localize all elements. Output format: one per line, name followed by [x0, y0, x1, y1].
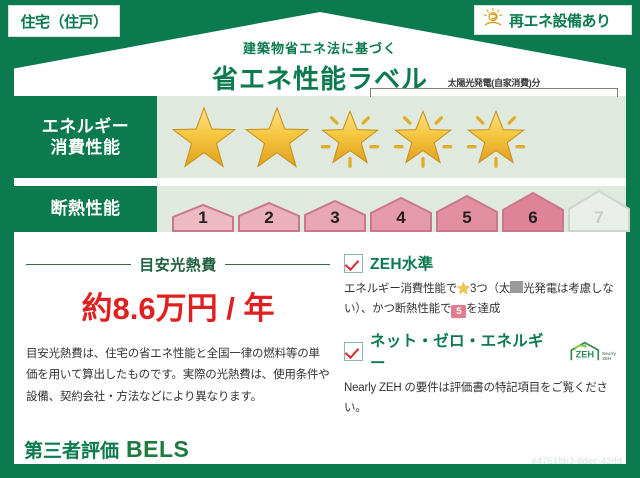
insulation-grade-scale: 1 2 3 4 5	[157, 186, 626, 232]
net-zero-title-row: ネット・ゼロ・エネルギー ZEH Nearly ZEH	[344, 329, 626, 373]
energy-performance-label: エネルギー 消費性能	[14, 96, 157, 178]
renewable-badge-label: 再エネ設備あり	[509, 10, 611, 31]
energy-star-rating	[157, 96, 626, 178]
bels-certification-box: 第三者評価 BELS	[16, 434, 197, 464]
zeh-desc-part1: エネルギー消費性能で	[344, 283, 457, 295]
evaluation-date: 評価日 2025年10月22日	[472, 431, 622, 451]
energy-label-line2: 消費性能	[51, 137, 121, 158]
category-tag: 住宅（住戸）	[8, 5, 120, 37]
zeh-column: ZEH水準 エネルギー消費性能で3つ（太光発電は考慮しない）、かつ断熱性能で5を…	[330, 248, 626, 428]
utility-cost-heading-text: 目安光熱費	[139, 254, 217, 275]
grade-badge-1: 1	[171, 202, 235, 232]
grade-number: 6	[501, 208, 565, 228]
grade-badge-3: 3	[303, 198, 367, 232]
grade-number: 5	[435, 208, 499, 228]
utility-cost-description: 目安光熱費は、住宅の省エネ性能と全国一律の燃料等の単価を用いて算出したものです。…	[26, 344, 330, 408]
grade-number: 3	[303, 208, 367, 228]
grade-badge-inline: 5	[451, 305, 466, 318]
energy-performance-row: エネルギー 消費性能 太陽光発電(自家消費)分	[14, 96, 626, 178]
zeh-standard-title-row: ZEH水準	[344, 252, 626, 274]
zeh-logo-caption: Nearly ZEH	[602, 352, 626, 362]
heading-rule-left	[26, 264, 131, 265]
renewable-equipment-badge: 再エネ設備あり	[474, 5, 632, 35]
building-name: ステラルーチェ 101号室	[225, 439, 388, 459]
net-zero-energy-block: ネット・ゼロ・エネルギー ZEH Nearly ZEH Nearly ZEH の…	[344, 329, 626, 418]
grade-badge-6: 6	[501, 190, 565, 232]
lower-content: 目安光熱費 約8.6万円 / 年 目安光熱費は、住宅の省エネ性能と全国一律の燃料…	[14, 248, 626, 428]
utility-cost-value: 約8.6万円 / 年	[26, 283, 330, 328]
label-footer: 第三者評価 BELS ステラルーチェ 101号室 評価日 2025年10月22日…	[0, 422, 640, 478]
zeh-desc-part4: を達成	[466, 303, 500, 315]
grade-number: 2	[237, 208, 301, 228]
star-icon-solar	[390, 106, 456, 169]
sun-icon	[482, 7, 504, 34]
insulation-performance-row: 断熱性能 1 2 3	[14, 186, 626, 232]
heading-rule-right	[225, 264, 330, 265]
star-icon-solar	[317, 106, 383, 169]
bels-jp-label: 第三者評価	[24, 436, 119, 463]
grade-badge-2: 2	[237, 200, 301, 232]
utility-cost-column: 目安光熱費 約8.6万円 / 年 目安光熱費は、住宅の省エネ性能と全国一律の燃料…	[14, 248, 330, 428]
svg-text:ZEH: ZEH	[575, 350, 594, 360]
zeh-standard-description: エネルギー消費性能で3つ（太光発電は考慮しない）、かつ断熱性能で5を達成	[344, 279, 626, 319]
grade-number: 7	[567, 208, 631, 228]
energy-label-line1: エネルギー	[42, 116, 130, 137]
star-icon-inline	[457, 281, 470, 294]
checkmark-icon	[344, 254, 363, 273]
zeh-standard-title: ZEH水準	[370, 252, 434, 274]
zeh-house-logo-icon: ZEH Nearly ZEH	[568, 340, 626, 362]
category-tag-label: 住宅（住戸）	[20, 11, 107, 32]
grade-badge-7: 7	[567, 188, 631, 232]
star-icon-solar	[463, 106, 529, 169]
insulation-performance-label: 断熱性能	[14, 186, 157, 232]
star-icon	[171, 106, 237, 169]
header-subtitle: 建築物省エネ法に基づく	[0, 38, 640, 57]
redacted-block	[510, 281, 523, 293]
bels-en-label: BELS	[126, 436, 189, 463]
energy-stars-area: 太陽光発電(自家消費)分	[157, 96, 626, 178]
evaluation-id: e47518b3-8dec-42dd	[532, 456, 622, 467]
insulation-label-text: 断熱性能	[51, 198, 121, 219]
grade-number: 1	[171, 208, 235, 228]
star-icon	[244, 106, 310, 169]
net-zero-description: Nearly ZEH の要件は評価書の特記項目をご覧ください。	[344, 378, 626, 418]
checkmark-icon	[344, 342, 363, 361]
zeh-desc-part2: 3つ（太	[470, 283, 510, 295]
insulation-grades-area: 1 2 3 4 5	[157, 186, 626, 232]
grade-badge-5: 5	[435, 193, 499, 232]
zeh-standard-block: ZEH水準 エネルギー消費性能で3つ（太光発電は考慮しない）、かつ断熱性能で5を…	[344, 252, 626, 319]
grade-badge-4: 4	[369, 195, 433, 232]
net-zero-title: ネット・ゼロ・エネルギー	[370, 329, 558, 373]
energy-performance-label: 住宅（住戸） 再エネ設備あり 建築物省エネ法に基づく 省エネ性能ラベル	[0, 0, 640, 478]
grade-number: 4	[369, 208, 433, 228]
utility-cost-heading: 目安光熱費	[26, 254, 330, 275]
